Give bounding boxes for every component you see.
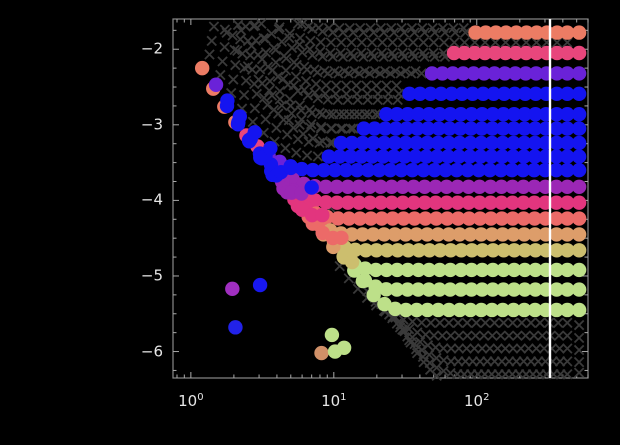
scatter-plot-figure: −2−3−4−5−6 100101102 (0, 0, 620, 445)
plot-canvas (0, 0, 620, 445)
y-tick-label: −3 (121, 117, 163, 132)
right-column-markers (572, 25, 586, 377)
y-tick-label: −6 (121, 344, 163, 359)
y-tick-label: −4 (121, 193, 163, 208)
outlier-markers (225, 278, 351, 360)
y-tick-label: −5 (121, 268, 163, 283)
y-tick-label: −2 (121, 42, 163, 57)
x-tick-label: 102 (464, 394, 489, 409)
x-tick-label: 100 (178, 394, 203, 409)
x-tick-label: 101 (321, 394, 346, 409)
